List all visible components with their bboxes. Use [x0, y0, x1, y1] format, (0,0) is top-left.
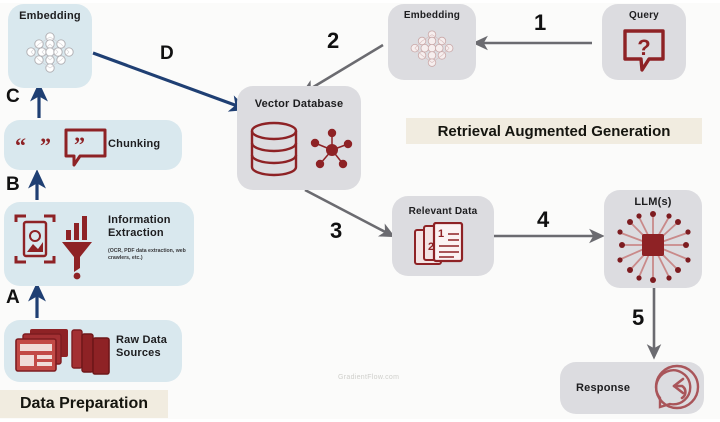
arrow-3: [305, 190, 391, 235]
node-embedding-query-label: Embedding: [388, 10, 476, 22]
node-llms-label: LLM(s): [604, 196, 702, 209]
reply-bubble-icon: [652, 364, 704, 412]
node-llms[interactable]: LLM(s): [604, 190, 702, 288]
neural-mesh-icon: [19, 30, 81, 78]
arrow-2: [305, 45, 383, 92]
node-chunking-label: Chunking: [108, 138, 178, 151]
node-information-extraction-sublabel: (OCR, PDF data extraction, web crawlers,…: [108, 248, 192, 261]
node-embedding-prep[interactable]: Embedding: [8, 4, 92, 88]
node-information-extraction-label: Information Extraction: [108, 214, 194, 239]
title-banner: Retrieval Augmented Generation: [406, 118, 702, 144]
svg-text:”: ”: [74, 132, 85, 157]
edge-label-3: 3: [330, 218, 342, 244]
edge-label-c: C: [6, 86, 20, 108]
rag-diagram-canvas: C B A D 1 2 3 4 5 Embedding Chunking “: [0, 0, 720, 422]
svg-text:1: 1: [438, 228, 444, 240]
node-raw-data-sources-label: Raw Data Sources: [116, 334, 182, 359]
node-vector-database-label: Vector Database: [237, 98, 361, 111]
ranked-documents-icon: 1 2: [412, 222, 474, 272]
watermark: GradientFlow.com: [338, 374, 399, 381]
node-vector-database[interactable]: Vector Database: [237, 86, 361, 190]
edge-label-1: 1: [534, 10, 546, 36]
database-cluster-icon: [244, 120, 354, 182]
letterbox-top: [0, 0, 720, 3]
node-chunking[interactable]: Chunking “ ” ”: [4, 120, 182, 170]
edge-label-4: 4: [537, 207, 549, 233]
scan-funnel-icon: [10, 208, 106, 280]
chip-network-icon: [611, 209, 695, 287]
node-response[interactable]: Response: [560, 362, 704, 414]
svg-text:2: 2: [428, 241, 434, 253]
node-relevant-data[interactable]: Relevant Data 1 2: [392, 196, 494, 276]
node-embedding-prep-label: Embedding: [8, 10, 92, 23]
node-information-extraction[interactable]: Information Extraction (OCR, PDF data ex…: [4, 202, 194, 286]
edge-label-b: B: [6, 174, 20, 196]
question-bubble-icon: ?: [619, 26, 669, 74]
section-banner: Data Preparation: [0, 390, 168, 418]
node-relevant-data-label: Relevant Data: [392, 206, 494, 218]
documents-books-icon: [12, 324, 116, 378]
neural-mesh-icon: [404, 28, 460, 72]
edge-label-d: D: [160, 43, 174, 65]
edge-label-a: A: [6, 287, 20, 309]
node-response-label: Response: [576, 382, 648, 395]
edge-label-2: 2: [327, 28, 339, 54]
svg-text:?: ?: [637, 35, 650, 60]
edge-label-5: 5: [632, 305, 644, 331]
node-raw-data-sources[interactable]: Raw Data Sources: [4, 320, 182, 382]
node-query[interactable]: Query ?: [602, 4, 686, 80]
node-embedding-query[interactable]: Embedding: [388, 4, 476, 80]
node-query-label: Query: [602, 10, 686, 22]
svg-text:“: “: [15, 133, 26, 158]
svg-text:”: ”: [40, 133, 51, 158]
quote-bubble-icon: “ ” ”: [12, 123, 110, 169]
